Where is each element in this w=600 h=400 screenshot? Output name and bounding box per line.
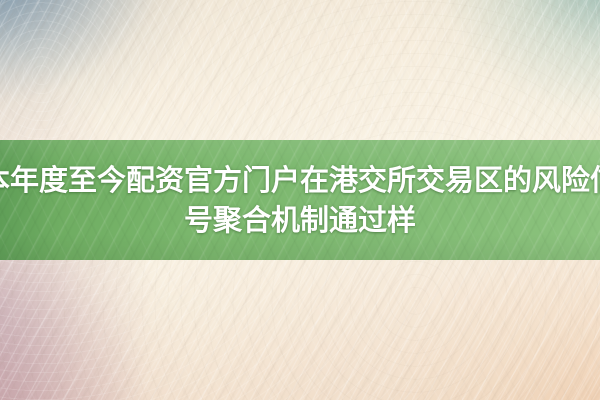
headline-block: 本年度至今配资官方门户在港交所交易区的风险信 号聚合机制通过样: [0, 140, 600, 260]
banner-image: 本年度至今配资官方门户在港交所交易区的风险信 号聚合机制通过样: [0, 0, 600, 400]
headline-line-1: 本年度至今配资官方门户在港交所交易区的风险信: [0, 163, 600, 197]
headline-line-2: 号聚合机制通过样: [184, 203, 416, 237]
